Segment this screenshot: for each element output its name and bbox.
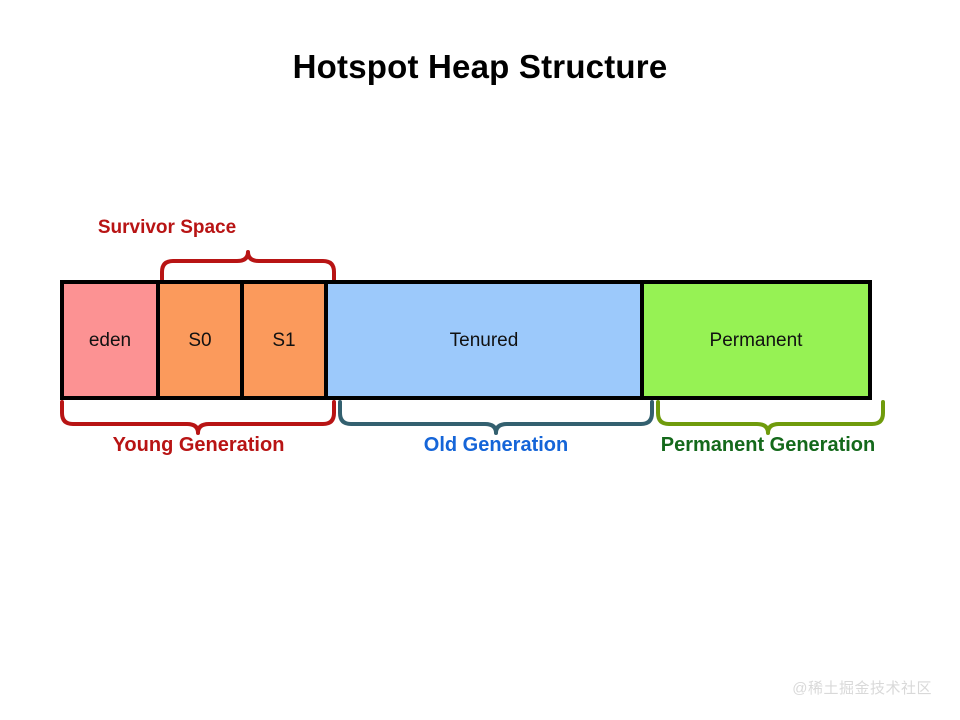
survivor-space-label: Survivor Space [37, 218, 297, 237]
heap-segment-survivor0[interactable]: S0 [160, 284, 244, 396]
young-generation-label: Young Generation [62, 435, 335, 455]
heap-segment-tenured-label: Tenured [450, 331, 519, 350]
heap-segment-survivor1[interactable]: S1 [244, 284, 328, 396]
young-generation-brace-icon [62, 402, 334, 433]
heap-bar: eden S0 S1 Tenured Permanent [60, 280, 872, 400]
heap-segment-eden[interactable]: eden [64, 284, 160, 396]
heap-structure-diagram: Hotspot Heap Structure eden S0 S1 Tenure… [0, 0, 960, 720]
heap-segment-tenured[interactable]: Tenured [328, 284, 644, 396]
heap-segment-survivor1-label: S1 [272, 331, 295, 350]
survivor-space-brace-icon [162, 252, 334, 283]
heap-segment-permanent[interactable]: Permanent [644, 284, 868, 396]
heap-segment-eden-label: eden [89, 331, 131, 350]
permanent-generation-label: Permanent Generation [653, 435, 883, 455]
heap-segment-permanent-label: Permanent [710, 331, 803, 350]
old-generation-label: Old Generation [340, 435, 652, 455]
watermark: @稀土掘金技术社区 [792, 677, 932, 698]
heap-segment-survivor0-label: S0 [188, 331, 211, 350]
permanent-generation-brace-icon [658, 402, 883, 433]
old-generation-brace-icon [340, 402, 652, 433]
